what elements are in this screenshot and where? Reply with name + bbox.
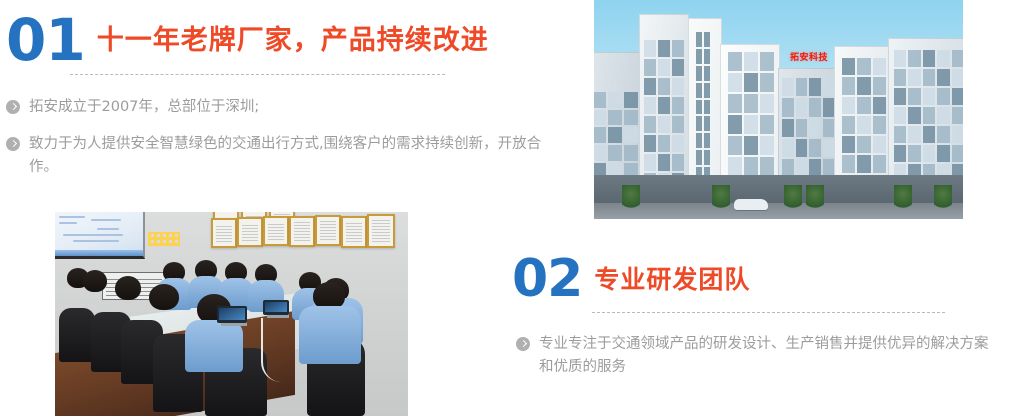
certificate-frame — [237, 217, 263, 247]
section-01-divider — [70, 74, 445, 75]
projector-screen — [55, 212, 145, 259]
section-01-bullet-list: 拓安成立于2007年，总部位于深圳; 致力于为人提供安全智慧绿色的交通出行方式,… — [6, 96, 554, 193]
tree — [934, 185, 952, 211]
certificate-frame — [315, 215, 341, 246]
section-02-bullet-list: 专业专注于交通领域产品的研发设计、生产销售并提供优异的解决方案和优质的服务 — [516, 333, 996, 393]
window-grid — [728, 52, 774, 176]
rooftop-company-sign: 拓安科技 — [790, 50, 828, 63]
bullet-text: 专业专注于交通领域产品的研发设计、生产销售并提供优异的解决方案和优质的服务 — [539, 333, 996, 379]
laptop — [263, 300, 289, 315]
section-02-heading: 02 专业研发团队 — [512, 256, 750, 304]
chevron-right-circle-icon — [6, 100, 20, 114]
office-chair — [59, 308, 95, 362]
window-grid — [644, 40, 684, 190]
list-item: 专业专注于交通领域产品的研发设计、生产销售并提供优异的解决方案和优质的服务 — [516, 333, 996, 379]
window-grid — [842, 58, 886, 192]
list-item: 拓安成立于2007年，总部位于深圳; — [6, 96, 554, 119]
laptop — [217, 306, 247, 323]
team-meeting-photo — [55, 212, 408, 416]
bullet-text: 致力于为人提供安全智慧绿色的交通出行方式,围绕客户的需求持续创新，开放合作。 — [29, 133, 554, 179]
tree — [712, 185, 730, 211]
section-02-divider — [592, 312, 945, 313]
chevron-right-circle-icon — [516, 337, 530, 351]
company-intro-page: 01 十一年老牌厂家，产品持续改进 拓安成立于2007年，总部位于深圳; 致力于… — [0, 0, 1009, 416]
section-02-title: 专业研发团队 — [594, 264, 750, 296]
certificate-frame — [341, 216, 367, 248]
section-01-number: 01 — [6, 14, 85, 67]
tree — [806, 185, 824, 211]
section-01-title: 十一年老牌厂家，产品持续改进 — [97, 24, 489, 58]
company-building-photo: 拓安科技 — [594, 0, 963, 219]
certificate-frame — [289, 216, 315, 247]
section-01-heading: 01 十一年老牌厂家，产品持续改进 — [6, 14, 489, 67]
parked-car — [734, 199, 768, 210]
chevron-right-circle-icon — [6, 137, 20, 151]
window-grid — [696, 32, 710, 182]
tree — [894, 185, 912, 211]
tree — [622, 185, 640, 211]
certificate-frame — [211, 218, 237, 248]
cable — [261, 318, 285, 382]
decorative-dot-pattern — [148, 232, 180, 246]
certificate-frame — [263, 216, 289, 246]
tree — [784, 185, 802, 211]
certificate-frame — [367, 214, 395, 248]
section-02-number: 02 — [512, 256, 582, 304]
bullet-text: 拓安成立于2007年，总部位于深圳; — [29, 96, 259, 119]
list-item: 致力于为人提供安全智慧绿色的交通出行方式,围绕客户的需求持续创新，开放合作。 — [6, 133, 554, 179]
